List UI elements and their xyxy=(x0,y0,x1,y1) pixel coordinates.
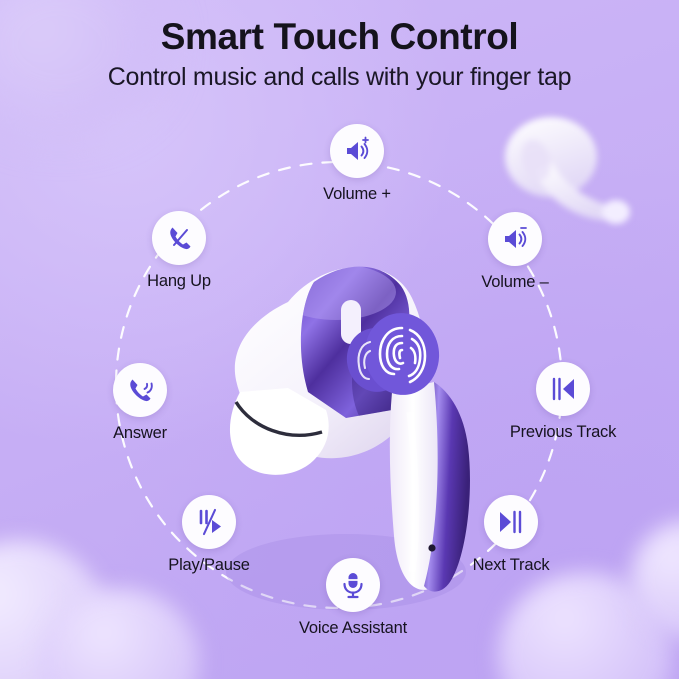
feature-label: Volume + xyxy=(282,185,432,204)
feature-previous-track[interactable]: Previous Track xyxy=(488,362,638,442)
phone-answer-icon xyxy=(125,375,156,406)
feature-label: Hang Up xyxy=(104,272,254,291)
feature-icon-bubble[interactable] xyxy=(326,558,380,612)
page-subtitle: Control music and calls with your finger… xyxy=(0,63,679,92)
feature-icon-bubble[interactable] xyxy=(536,362,590,416)
next-track-icon xyxy=(496,507,526,537)
previous-track-icon xyxy=(548,374,578,404)
speaker-minus-icon xyxy=(499,223,531,255)
phone-hangup-icon xyxy=(164,223,195,254)
background-orb xyxy=(630,520,679,640)
feature-icon-bubble[interactable] xyxy=(152,211,206,265)
feature-play-pause[interactable]: Play/Pause xyxy=(134,495,284,575)
feature-icon-bubble[interactable] xyxy=(113,363,167,417)
infographic-canvas: Smart Touch Control Control music and ca… xyxy=(0,0,679,679)
feature-icon-bubble[interactable] xyxy=(182,495,236,549)
feature-icon-bubble[interactable] xyxy=(330,124,384,178)
feature-icon-bubble[interactable] xyxy=(484,495,538,549)
microphone-icon xyxy=(338,570,368,600)
page-title: Smart Touch Control xyxy=(0,16,679,57)
feature-label: Voice Assistant xyxy=(278,619,428,638)
feature-label: Play/Pause xyxy=(134,556,284,575)
feature-label: Previous Track xyxy=(488,423,638,442)
speaker-plus-icon xyxy=(341,135,373,167)
feature-label: Volume – xyxy=(440,273,590,292)
feature-next-track[interactable]: Next Track xyxy=(436,495,586,575)
background-orb xyxy=(0,540,110,679)
feature-icon-bubble[interactable] xyxy=(488,212,542,266)
play-pause-icon xyxy=(193,506,225,538)
feature-label: Next Track xyxy=(436,556,586,575)
feature-voice-assistant[interactable]: Voice Assistant xyxy=(278,558,428,638)
feature-hang-up[interactable]: Hang Up xyxy=(104,211,254,291)
feature-label: Answer xyxy=(65,424,215,443)
feature-answer[interactable]: Answer xyxy=(65,363,215,443)
feature-volume-up[interactable]: Volume + xyxy=(282,124,432,204)
feature-volume-down[interactable]: Volume – xyxy=(440,212,590,292)
